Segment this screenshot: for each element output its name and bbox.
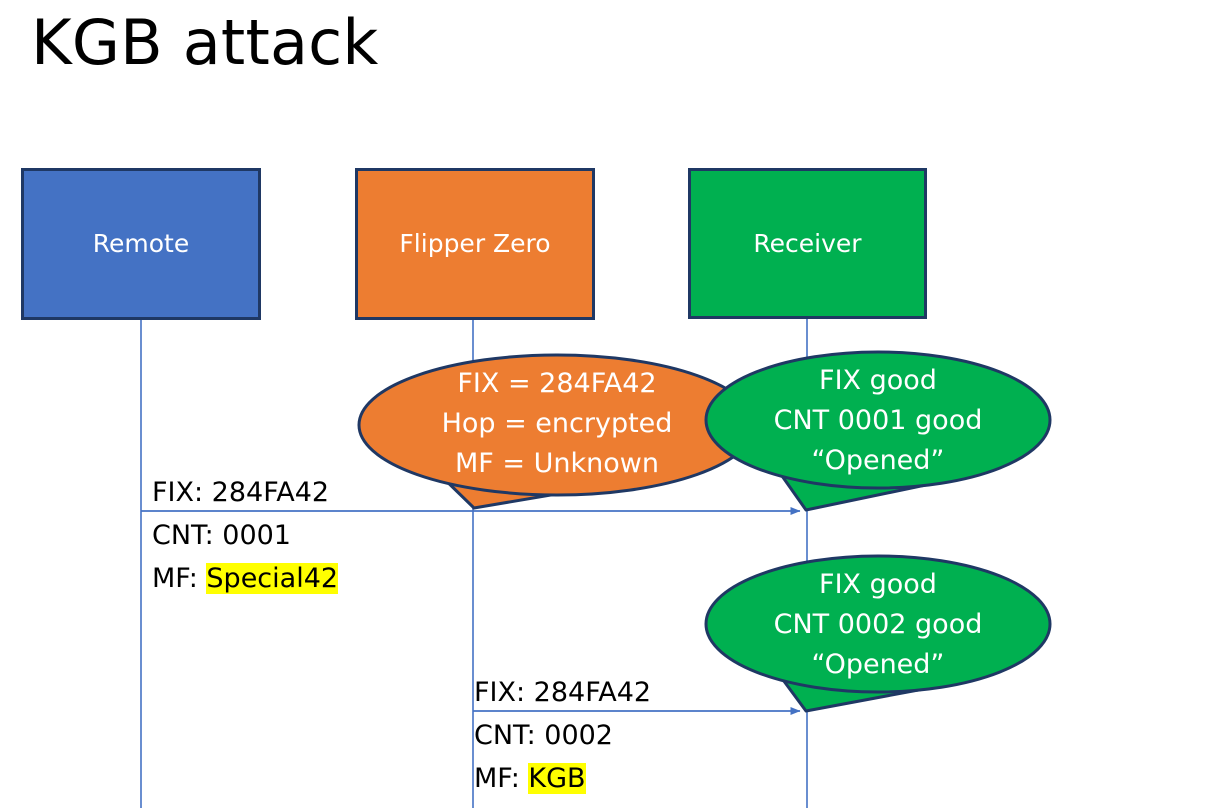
message-line-prefix: FIX: xyxy=(474,677,534,708)
lane-label-remote: Remote xyxy=(93,230,189,258)
message-line: CNT: 0002 xyxy=(474,714,651,757)
lane-label-flipper-zero: Flipper Zero xyxy=(399,230,550,258)
callout-bubble-flipper xyxy=(359,355,755,495)
lane-box-flipper-zero[interactable]: Flipper Zero xyxy=(355,168,595,320)
message-line: FIX: 284FA42 xyxy=(474,671,651,714)
message-line-value: 0001 xyxy=(222,520,291,551)
message-label-flipper-to-receiver: FIX: 284FA42 CNT: 0002 MF: KGB xyxy=(474,671,651,800)
callout-bubble-receiver-2 xyxy=(706,556,1050,692)
message-line-prefix: FIX: xyxy=(152,477,212,508)
message-line: FIX: 284FA42 xyxy=(152,471,338,514)
message-label-remote-to-receiver: FIX: 284FA42 CNT: 0001 MF: Special42 xyxy=(152,471,338,600)
slide-canvas: KGB attack Remote Flipper Zero Receiver … xyxy=(0,0,1218,808)
message-line-prefix: CNT: xyxy=(152,520,222,551)
callout-receiver-verify-2 xyxy=(706,556,1050,711)
lane-label-receiver: Receiver xyxy=(753,230,861,258)
callout-bubble-receiver-1 xyxy=(706,352,1050,488)
message-line-value: 284FA42 xyxy=(212,477,329,508)
message-line-prefix: CNT: xyxy=(474,720,544,751)
message-line-value-highlighted: Special42 xyxy=(206,563,338,594)
message-line-value: 0002 xyxy=(544,720,613,751)
message-line-value-highlighted: KGB xyxy=(528,763,585,794)
message-line-prefix: MF: xyxy=(474,763,528,794)
message-line-prefix: MF: xyxy=(152,563,206,594)
slide-title: KGB attack xyxy=(31,6,379,79)
message-line: MF: KGB xyxy=(474,757,651,800)
callout-flipper-capture xyxy=(359,355,755,508)
lane-box-receiver[interactable]: Receiver xyxy=(688,168,927,319)
message-line-value: 284FA42 xyxy=(534,677,651,708)
message-line: CNT: 0001 xyxy=(152,514,338,557)
callout-receiver-verify-1 xyxy=(706,352,1050,510)
message-line: MF: Special42 xyxy=(152,557,338,600)
lane-box-remote[interactable]: Remote xyxy=(21,168,261,320)
